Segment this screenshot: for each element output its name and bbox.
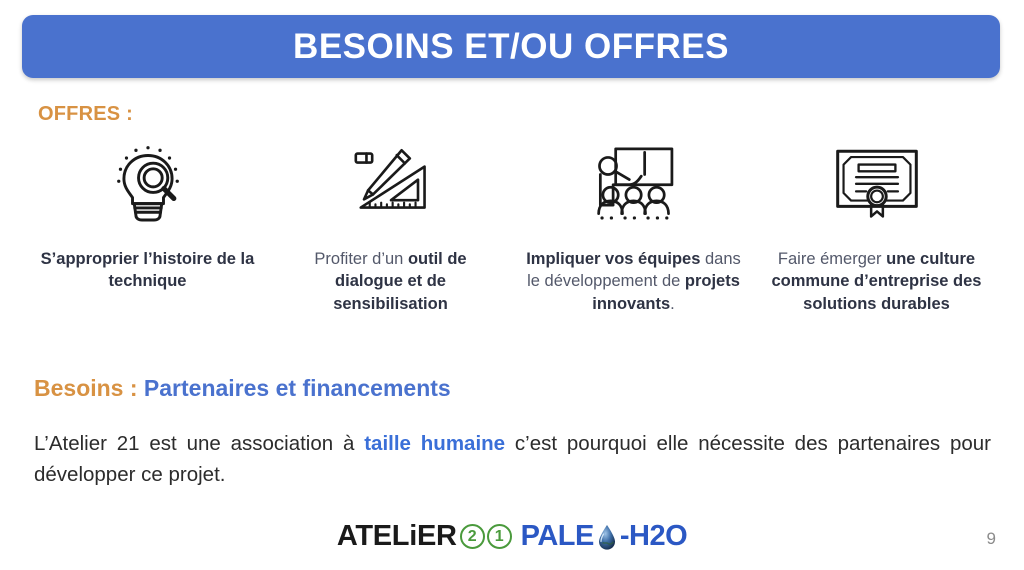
caption-part-period: . bbox=[670, 295, 675, 313]
lightbulb-magnifier-icon bbox=[105, 140, 191, 226]
caption-part-regular: Profiter d’un bbox=[314, 250, 408, 268]
footer-logo: ATELiER 2 1 PALE -H2O bbox=[0, 522, 1024, 551]
logo-lockup: ATELiER 2 1 PALE -H2O bbox=[337, 522, 687, 551]
offer-card-caption: S’approprier l’histoire de la technique bbox=[26, 248, 269, 293]
needs-heading-value: Partenaires et financements bbox=[144, 375, 451, 401]
offer-card-caption: Faire émerger une culture commune d’entr… bbox=[755, 248, 998, 315]
caption-part-bold: Impliquer vos équipes bbox=[526, 250, 700, 268]
needs-heading-label: Besoins : bbox=[34, 375, 138, 401]
logo-h2o-text: -H2O bbox=[620, 522, 687, 551]
offers-card-row: S’approprier l’histoire de la technique bbox=[26, 140, 998, 315]
logo-digit-one: 1 bbox=[487, 524, 512, 549]
slide-title-bar: BESOINS ET/OU OFFRES bbox=[22, 15, 1000, 78]
paragraph-text-before: L’Atelier 21 est une association à bbox=[34, 432, 364, 455]
logo-paleo-text: PALE bbox=[521, 522, 594, 551]
needs-paragraph: L’Atelier 21 est une association à taill… bbox=[34, 428, 991, 490]
water-drop-globe-icon bbox=[596, 523, 618, 551]
offer-card: Faire émerger une culture commune d’entr… bbox=[755, 140, 998, 315]
pencil-ruler-icon bbox=[346, 140, 436, 226]
offer-card: Impliquer vos équipes dans le développem… bbox=[512, 140, 755, 315]
offer-card-caption: Profiter d’un outil de dialogue et de se… bbox=[269, 248, 512, 315]
needs-heading: Besoins : Partenaires et financements bbox=[34, 375, 451, 402]
caption-part-regular: Faire émerger bbox=[778, 250, 886, 268]
offer-card: Profiter d’un outil de dialogue et de se… bbox=[269, 140, 512, 315]
logo-atelier-text: ATELiER bbox=[337, 522, 457, 551]
offer-card: S’approprier l’histoire de la technique bbox=[26, 140, 269, 293]
presentation-audience-icon bbox=[585, 140, 683, 226]
offer-card-caption: Impliquer vos équipes dans le développem… bbox=[512, 248, 755, 315]
certificate-seal-icon bbox=[831, 140, 923, 226]
offers-section-label: OFFRES : bbox=[38, 103, 133, 126]
page-title: BESOINS ET/OU OFFRES bbox=[293, 29, 729, 64]
page-number: 9 bbox=[987, 529, 996, 549]
paragraph-highlight: taille humaine bbox=[364, 432, 505, 455]
logo-digit-two: 2 bbox=[460, 524, 485, 549]
